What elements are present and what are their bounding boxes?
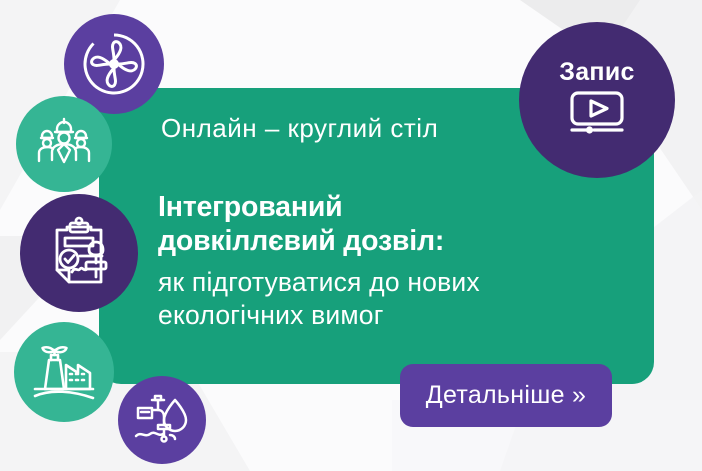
fan-icon [81, 31, 147, 97]
recording-badge-label: Запис [559, 58, 634, 87]
subtitle-line-1: як підготуватися до нових [158, 266, 638, 299]
page-title: Інтегрований довкіллєвий дозвіл: [158, 190, 628, 258]
workers-team-icon [33, 116, 95, 172]
water-tap-icon [132, 392, 192, 448]
icon-bubble-permit [20, 194, 138, 312]
icon-bubble-team [16, 96, 112, 192]
icon-bubble-factory [14, 322, 114, 422]
icon-bubble-water [118, 376, 206, 464]
subtitle-line-2: екологічних вимог [158, 299, 638, 332]
permit-document-icon [40, 214, 118, 292]
title-line-1: Інтегрований [158, 190, 628, 224]
factory-eco-icon [30, 341, 98, 403]
recording-badge[interactable]: Запис [519, 22, 675, 178]
page-subtitle: як підготуватися до нових екологічних ви… [158, 266, 638, 332]
video-play-icon [564, 90, 630, 142]
promo-banner: Онлайн – круглий стіл Інтегрований довкі… [0, 0, 702, 471]
title-line-2: довкіллєвий дозвіл: [158, 224, 628, 258]
event-format-label: Онлайн – круглий стіл [161, 113, 438, 144]
details-button[interactable]: Детальніше » [400, 364, 612, 427]
